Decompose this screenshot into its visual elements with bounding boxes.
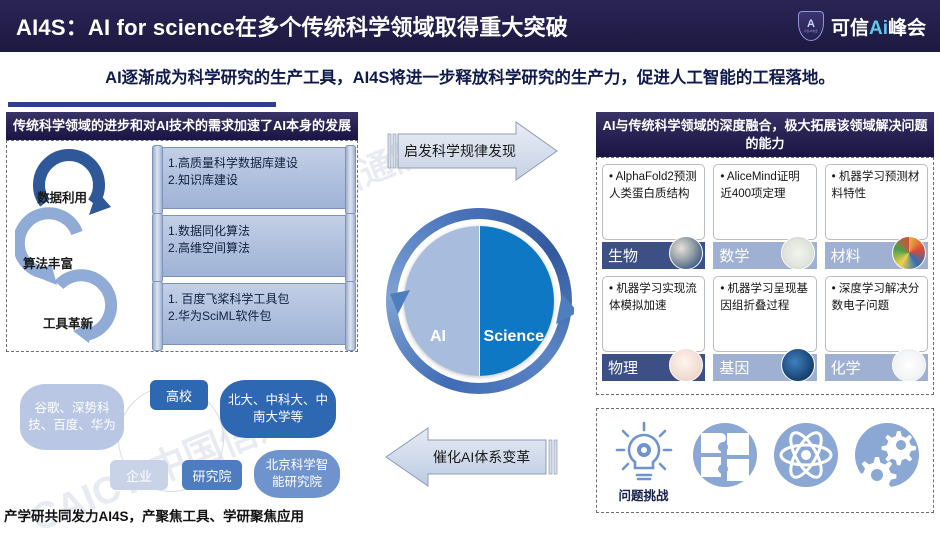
domain-grid: • AlphaFold2预测人类蛋白质结构 生物 • AliceMind证明近4… bbox=[602, 164, 928, 381]
domain-cell-text: • 机器学习呈现基因组折叠过程 bbox=[713, 276, 816, 352]
brand-text-part2: 峰会 bbox=[888, 18, 926, 39]
org-node-institute: 研究院 bbox=[182, 460, 242, 490]
challenges-panel: 问题挑战 决策受限 bbox=[596, 408, 934, 513]
domain-tag-label: 基因 bbox=[719, 357, 749, 378]
org-node-university: 高校 bbox=[150, 380, 208, 410]
shield-icon: A 可信AI峰会 bbox=[798, 11, 824, 41]
ring-arrow-icon bbox=[384, 186, 574, 421]
org-bubble-label: 北京科学智能研究院 bbox=[262, 457, 332, 491]
arrow-right: 启发科学规律发现 bbox=[384, 120, 559, 182]
domain-cell-chemistry: • 深度学习解决分数电子问题 化学 bbox=[825, 276, 928, 381]
challenge-item: 可靠验证 bbox=[849, 419, 925, 509]
domain-cell-physics: • 机器学习实现流体模拟加速 物理 bbox=[602, 276, 705, 381]
cycle-diagram: 数据利用 算法丰富 工具革新 bbox=[15, 145, 147, 350]
arrow-right-label: 启发科学规律发现 bbox=[404, 141, 516, 161]
domain-tag-label: 材料 bbox=[831, 245, 861, 266]
domain-tag-label: 化学 bbox=[831, 357, 861, 378]
domain-tag: 物理 bbox=[602, 354, 705, 381]
domain-tag-label: 数学 bbox=[719, 245, 749, 266]
chemistry-thumb bbox=[892, 348, 926, 382]
domain-cell-text: • 机器学习预测材料特性 bbox=[825, 164, 928, 240]
cycle-label-1: 算法丰富 bbox=[23, 253, 73, 272]
domain-cell-text: • AliceMind证明近400项定理 bbox=[713, 164, 816, 240]
cycle-label-0: 数据利用 bbox=[37, 187, 87, 206]
brand-text: 可信Ai峰会 bbox=[831, 13, 926, 40]
domain-cell-text: • 机器学习实现流体模拟加速 bbox=[602, 276, 705, 352]
org-bubble-label: 谷歌、深势科技、百度、华为 bbox=[28, 400, 116, 434]
challenge-label: 问题挑战 bbox=[606, 485, 682, 504]
right-panel-title: AI与传统科学领域的深度融合，极大拓展该领域解决问题的能力 bbox=[596, 112, 934, 157]
left-panel: 传统科学领域的进步和对AI技术的需求加速了AI本身的发展 数据利用 算法丰富 工… bbox=[6, 112, 358, 370]
challenge-item: 因果较弱 bbox=[768, 419, 844, 509]
domain-cell-text: • AlphaFold2预测人类蛋白质结构 bbox=[602, 164, 705, 240]
org-bubble-enterprises: 谷歌、深势科技、百度、华为 bbox=[20, 384, 124, 450]
org-node-label: 企业 bbox=[126, 466, 152, 485]
physics-thumb bbox=[669, 348, 703, 382]
org-node-label: 高校 bbox=[166, 386, 192, 405]
org-diagram: 高校 企业 研究院 谷歌、深势科技、百度、华为 北大、中科大、中南大学等 北京科… bbox=[6, 374, 366, 504]
cycle-label-2: 工具革新 bbox=[43, 313, 93, 332]
center-diagram: 启发科学规律发现 AI Science 催化AI体系变革 bbox=[360, 108, 596, 528]
brand-logo: A 可信AI峰会 可信Ai峰会 bbox=[798, 11, 926, 41]
domain-tag-label: 物理 bbox=[608, 357, 638, 378]
right-panel: AI与传统科学领域的深度融合，极大拓展该领域解决问题的能力 • AlphaFol… bbox=[596, 112, 934, 397]
list-line: 1.数据同化算法 bbox=[168, 223, 346, 240]
domain-cell-materials: • 机器学习预测材料特性 材料 bbox=[825, 164, 928, 269]
domain-cell-biology: • AlphaFold2预测人类蛋白质结构 生物 bbox=[602, 164, 705, 269]
arrow-left: 催化AI体系变革 bbox=[380, 426, 560, 488]
arrow-left-label: 催化AI体系变革 bbox=[433, 447, 530, 467]
challenge-label: 因果较弱 bbox=[768, 485, 844, 504]
list-line: 2.知识库建设 bbox=[168, 172, 346, 189]
org-bubble-label: 北大、中科大、中南大学等 bbox=[228, 392, 328, 426]
domain-tag: 生物 bbox=[602, 242, 705, 269]
challenge-item: 问题挑战 bbox=[606, 419, 682, 509]
domain-tag: 基因 bbox=[713, 354, 816, 381]
shield-letter: A bbox=[807, 19, 815, 30]
list-item: 1.高质量科学数据库建设 2.知识库建设 bbox=[155, 147, 353, 209]
math-thumb bbox=[781, 236, 815, 270]
list-line: 2.华为SciML软件包 bbox=[168, 308, 346, 325]
org-bubble-universities: 北大、中科大、中南大学等 bbox=[220, 380, 336, 438]
accent-bar bbox=[8, 102, 276, 107]
list-line: 2.高维空间算法 bbox=[168, 240, 346, 257]
challenge-item: 决策受限 bbox=[687, 419, 763, 509]
page-title: AI4S：AI for science在多个传统科学领域取得重大突破 bbox=[16, 10, 568, 42]
list-line: 1. 百度飞桨科学工具包 bbox=[168, 291, 346, 308]
challenge-label: 可靠验证 bbox=[849, 485, 925, 504]
materials-thumb bbox=[892, 236, 926, 270]
domain-tag-label: 生物 bbox=[608, 245, 638, 266]
page-header: AI4S：AI for science在多个传统科学领域取得重大突破 A 可信A… bbox=[0, 0, 940, 52]
ai-science-disc: AI Science bbox=[384, 186, 574, 421]
gene-thumb bbox=[781, 348, 815, 382]
domain-cell-math: • AliceMind证明近400项定理 数学 bbox=[713, 164, 816, 269]
domain-tag: 材料 bbox=[825, 242, 928, 269]
right-panel-body: • AlphaFold2预测人类蛋白质结构 生物 • AliceMind证明近4… bbox=[596, 157, 934, 395]
left-panel-body: 数据利用 算法丰富 工具革新 1.高质量科学数据库建设 2.知识库建设 1.数据… bbox=[6, 140, 358, 352]
domain-tag: 化学 bbox=[825, 354, 928, 381]
org-node-enterprise: 企业 bbox=[110, 460, 168, 490]
biology-thumb bbox=[669, 236, 703, 270]
challenge-label: 决策受限 bbox=[687, 485, 763, 504]
challenges-row: 问题挑战 决策受限 bbox=[597, 409, 933, 512]
brand-text-ai: Ai bbox=[869, 18, 888, 39]
list-line: 1.高质量科学数据库建设 bbox=[168, 155, 346, 172]
org-node-label: 研究院 bbox=[192, 466, 231, 485]
list-item: 1.数据同化算法 2.高维空间算法 bbox=[155, 215, 353, 277]
org-bubble-institute: 北京科学智能研究院 bbox=[254, 450, 340, 498]
brand-text-part1: 可信 bbox=[831, 18, 869, 39]
shield-subtext: 可信AI峰会 bbox=[804, 30, 818, 33]
domain-cell-text: • 深度学习解决分数电子问题 bbox=[825, 276, 928, 352]
subtitle: AI逐渐成为科学研究的生产工具，AI4S将进一步释放科学研究的生产力，促进人工智… bbox=[0, 52, 940, 100]
org-caption: 产学研共同发力AI4S，产聚焦工具、学研聚焦应用 bbox=[4, 505, 424, 525]
domain-cell-gene: • 机器学习呈现基因组折叠过程 基因 bbox=[713, 276, 816, 381]
domain-tag: 数学 bbox=[713, 242, 816, 269]
list-item: 1. 百度飞桨科学工具包 2.华为SciML软件包 bbox=[155, 283, 353, 345]
left-panel-title: 传统科学领域的进步和对AI技术的需求加速了AI本身的发展 bbox=[6, 112, 358, 140]
